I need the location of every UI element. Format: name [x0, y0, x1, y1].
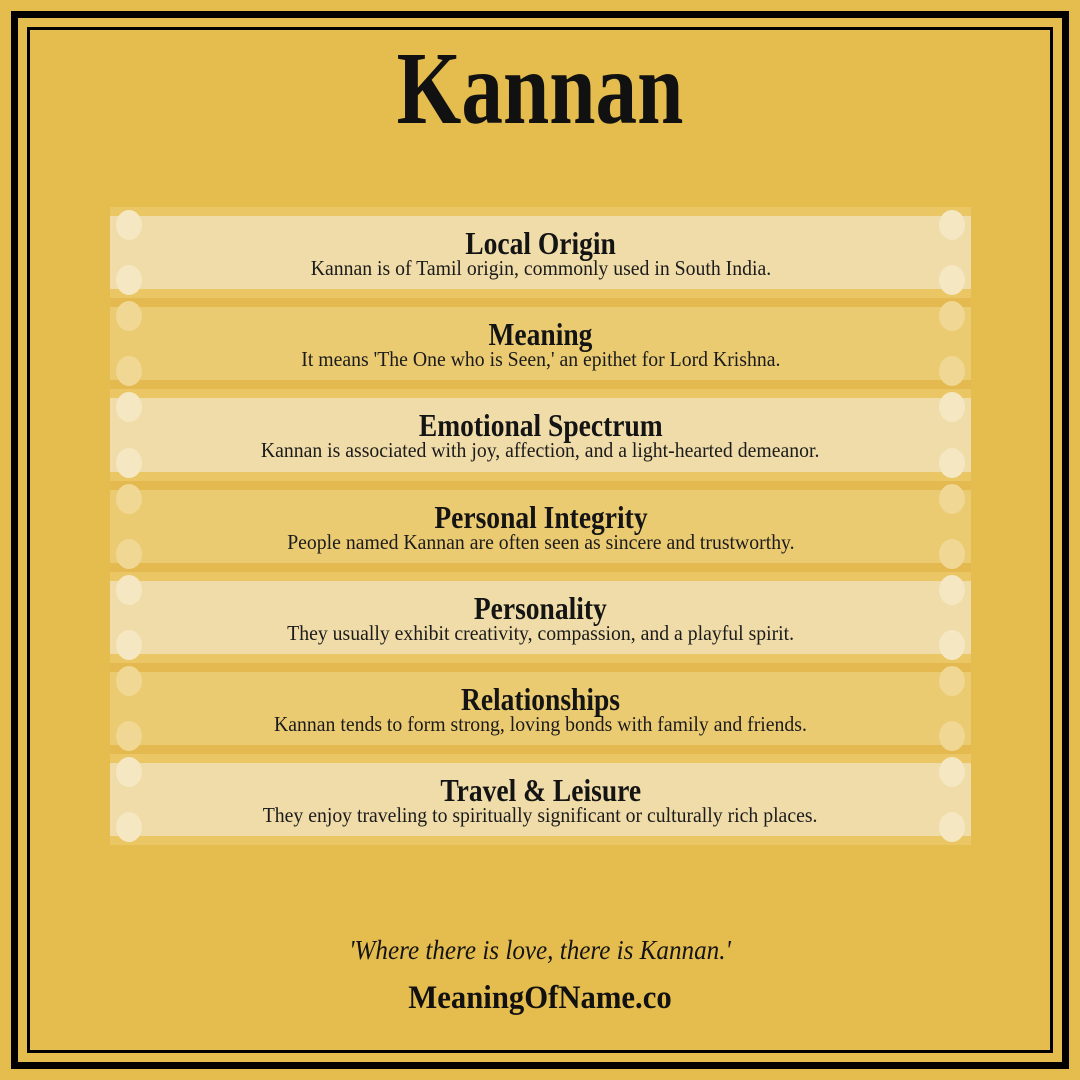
rivet-icon: [116, 575, 142, 605]
card-body: Kannan tends to form strong, loving bond…: [274, 713, 807, 735]
rivet-icon: [939, 210, 965, 240]
card-body: They enjoy traveling to spiritually sign…: [263, 804, 818, 826]
footer-quote: 'Where there is love, there is Kannan.': [38, 935, 1042, 966]
attribute-card: Personal IntegrityPeople named Kannan ar…: [110, 481, 971, 572]
rivet-icon: [939, 721, 965, 751]
card-text: PersonalityThey usually exhibit creativi…: [140, 572, 941, 663]
rivet-icon: [939, 575, 965, 605]
rivet-icon: [939, 265, 965, 295]
card-heading: Local Origin: [465, 226, 616, 260]
attribute-card: Local OriginKannan is of Tamil origin, c…: [110, 207, 971, 298]
rivet-icon: [116, 539, 142, 569]
rivet-icon: [939, 484, 965, 514]
name-meaning-poster: Kannan Local OriginKannan is of Tamil or…: [0, 0, 1080, 1080]
card-body: Kannan is associated with joy, affection…: [261, 439, 820, 461]
attribute-card-list: Local OriginKannan is of Tamil origin, c…: [110, 207, 971, 845]
card-heading: Personal Integrity: [434, 500, 647, 534]
rivet-icon: [939, 448, 965, 478]
card-text: MeaningIt means 'The One who is Seen,' a…: [140, 298, 941, 389]
card-heading: Travel & Leisure: [440, 773, 641, 807]
card-body: Kannan is of Tamil origin, commonly used…: [310, 257, 770, 279]
card-heading: Emotional Spectrum: [419, 408, 663, 442]
rivet-icon: [116, 666, 142, 696]
card-heading: Meaning: [489, 317, 593, 351]
card-text: Emotional SpectrumKannan is associated w…: [140, 389, 941, 480]
card-body: They usually exhibit creativity, compass…: [287, 622, 794, 644]
rivet-icon: [116, 630, 142, 660]
card-text: Travel & LeisureThey enjoy traveling to …: [140, 754, 941, 845]
rivet-icon: [116, 757, 142, 787]
rivet-icon: [116, 448, 142, 478]
attribute-card: Travel & LeisureThey enjoy traveling to …: [110, 754, 971, 845]
card-body: People named Kannan are often seen as si…: [287, 531, 794, 553]
rivet-icon: [939, 539, 965, 569]
card-body: It means 'The One who is Seen,' an epith…: [301, 348, 780, 370]
rivet-icon: [939, 301, 965, 331]
attribute-card: Emotional SpectrumKannan is associated w…: [110, 389, 971, 480]
rivet-icon: [116, 721, 142, 751]
attribute-card: PersonalityThey usually exhibit creativi…: [110, 572, 971, 663]
rivet-icon: [939, 757, 965, 787]
rivet-icon: [116, 301, 142, 331]
card-heading: Personality: [474, 591, 607, 625]
rivet-icon: [116, 484, 142, 514]
rivet-icon: [116, 265, 142, 295]
footer-brand: MeaningOfName.co: [38, 980, 1042, 1017]
rivet-icon: [116, 210, 142, 240]
attribute-card: RelationshipsKannan tends to form strong…: [110, 663, 971, 754]
page-title: Kannan: [108, 34, 972, 144]
card-text: Local OriginKannan is of Tamil origin, c…: [140, 207, 941, 298]
card-text: Personal IntegrityPeople named Kannan ar…: [140, 481, 941, 572]
rivet-icon: [939, 666, 965, 696]
attribute-card: MeaningIt means 'The One who is Seen,' a…: [110, 298, 971, 389]
card-heading: Relationships: [461, 682, 620, 716]
rivet-icon: [939, 630, 965, 660]
card-text: RelationshipsKannan tends to form strong…: [140, 663, 941, 754]
